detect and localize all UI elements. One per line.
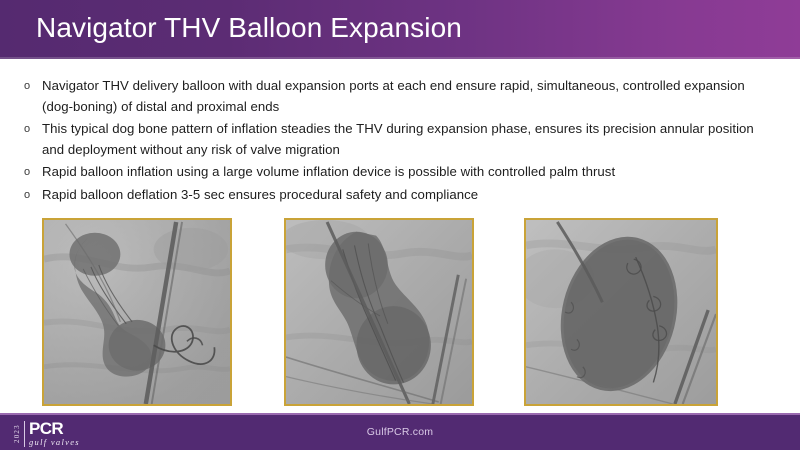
- page-title: Navigator THV Balloon Expansion: [36, 12, 462, 44]
- bullet-text: Navigator THV delivery balloon with dual…: [42, 76, 772, 117]
- logo-text: PCR gulf valves: [29, 421, 80, 448]
- bullet-circle-icon: o: [20, 76, 42, 96]
- footer-url: GulfPCR.com: [0, 415, 800, 450]
- bullet-text: Rapid balloon deflation 3-5 sec ensures …: [42, 185, 772, 206]
- list-item: o Rapid balloon deflation 3-5 sec ensure…: [20, 185, 772, 206]
- fluoroscopy-partial-expansion: [284, 218, 474, 406]
- fluoroscopy-dog-bone-early-inflation: [42, 218, 232, 406]
- bullet-circle-icon: o: [20, 185, 42, 205]
- logo-year: 2023: [14, 421, 21, 447]
- logo-divider: [24, 421, 25, 447]
- list-item: o Rapid balloon inflation using a large …: [20, 162, 772, 183]
- logo-subtitle: gulf valves: [29, 437, 80, 448]
- bullet-circle-icon: o: [20, 119, 42, 139]
- fluoroscopy-full-expansion: [524, 218, 718, 406]
- slide-header: Navigator THV Balloon Expansion: [0, 0, 800, 59]
- slide-body: o Navigator THV delivery balloon with du…: [0, 59, 800, 413]
- slide-footer: GulfPCR.com 2023 PCR gulf valves: [0, 413, 800, 450]
- bullet-text: Rapid balloon inflation using a large vo…: [42, 162, 772, 183]
- list-item: o Navigator THV delivery balloon with du…: [20, 76, 772, 117]
- pcr-logo: 2023 PCR gulf valves: [14, 418, 80, 450]
- list-item: o This typical dog bone pattern of infla…: [20, 119, 772, 160]
- bullet-text: This typical dog bone pattern of inflati…: [42, 119, 772, 160]
- bullet-circle-icon: o: [20, 162, 42, 182]
- bullet-list: o Navigator THV delivery balloon with du…: [20, 76, 772, 207]
- fluoroscopy-image-row: [0, 218, 800, 408]
- logo-brand-name: PCR: [29, 421, 80, 437]
